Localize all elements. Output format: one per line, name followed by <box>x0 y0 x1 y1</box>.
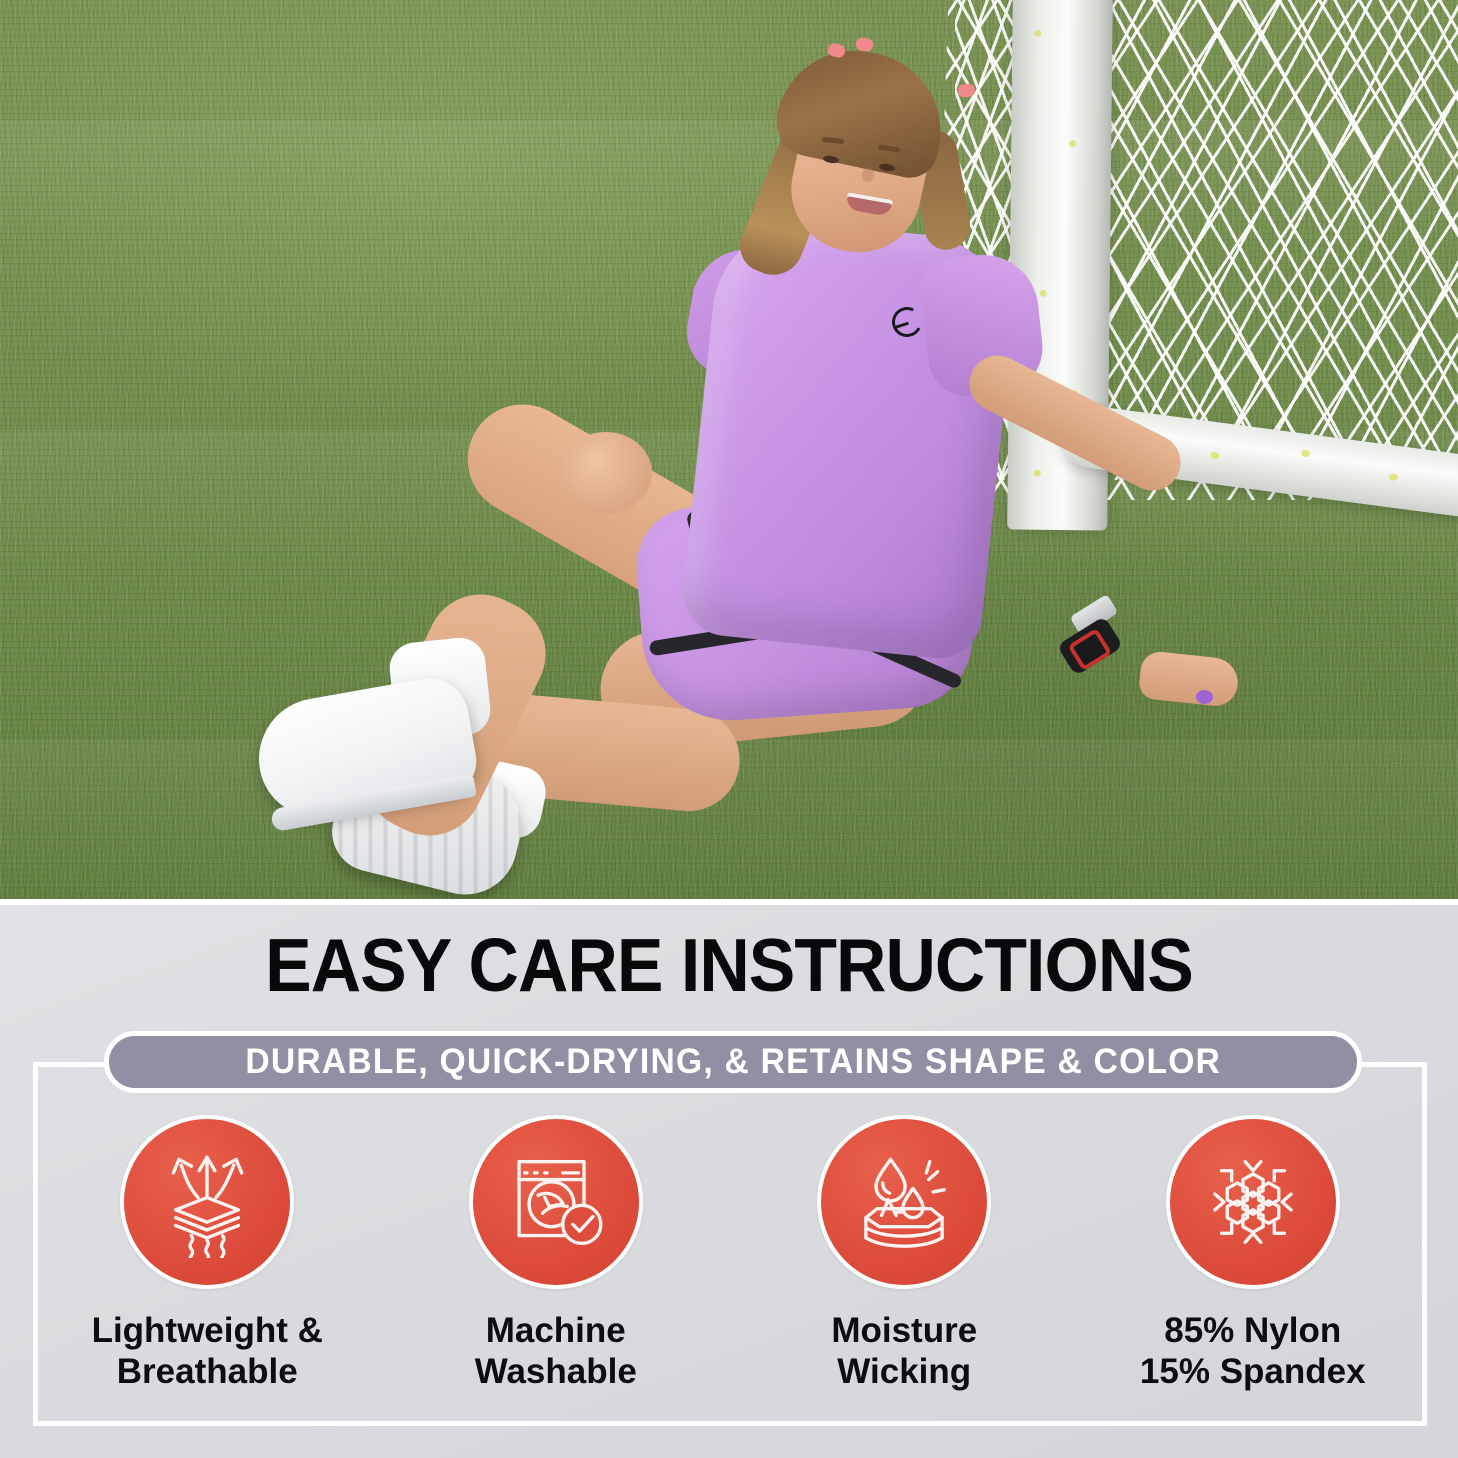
feature-label: Lightweight & Breathable <box>92 1311 323 1393</box>
model-figure <box>0 0 1458 900</box>
feature-label: Machine Washable <box>475 1311 637 1393</box>
feature-item-machine-washable: Machine Washable <box>382 1115 731 1393</box>
feature-badge <box>469 1115 643 1289</box>
feature-list: Lightweight & Breathable Machine Was <box>33 1115 1427 1393</box>
page-title: EASY CARE INSTRUCTIONS <box>51 922 1407 1008</box>
knee-front <box>560 432 652 514</box>
hand-right <box>1138 650 1240 708</box>
sport-watch <box>1057 616 1124 676</box>
washing-machine-icon <box>500 1146 612 1258</box>
product-hero-photo <box>0 0 1458 900</box>
fingernail-polish <box>1196 690 1213 704</box>
feature-badge <box>817 1115 991 1289</box>
feature-badge <box>120 1115 294 1289</box>
water-droplet-fabric-icon <box>848 1146 960 1258</box>
feature-item-fabric-composition: 85% Nylon 15% Spandex <box>1079 1115 1428 1393</box>
honeycomb-stretch-icon <box>1197 1146 1309 1258</box>
benefits-banner: DURABLE, QUICK-DRYING, & RETAINS SHAPE &… <box>104 1031 1362 1093</box>
feature-badge <box>1166 1115 1340 1289</box>
feature-item-moisture-wicking: Moisture Wicking <box>730 1115 1079 1393</box>
feature-label: 85% Nylon 15% Spandex <box>1140 1311 1366 1393</box>
hair-tie-right <box>957 83 975 98</box>
benefits-banner-text: DURABLE, QUICK-DRYING, & RETAINS SHAPE &… <box>245 1042 1221 1082</box>
feature-item-lightweight-breathable: Lightweight & Breathable <box>33 1115 382 1393</box>
breathable-layers-icon <box>151 1146 263 1258</box>
feature-label: Moisture Wicking <box>831 1311 977 1393</box>
